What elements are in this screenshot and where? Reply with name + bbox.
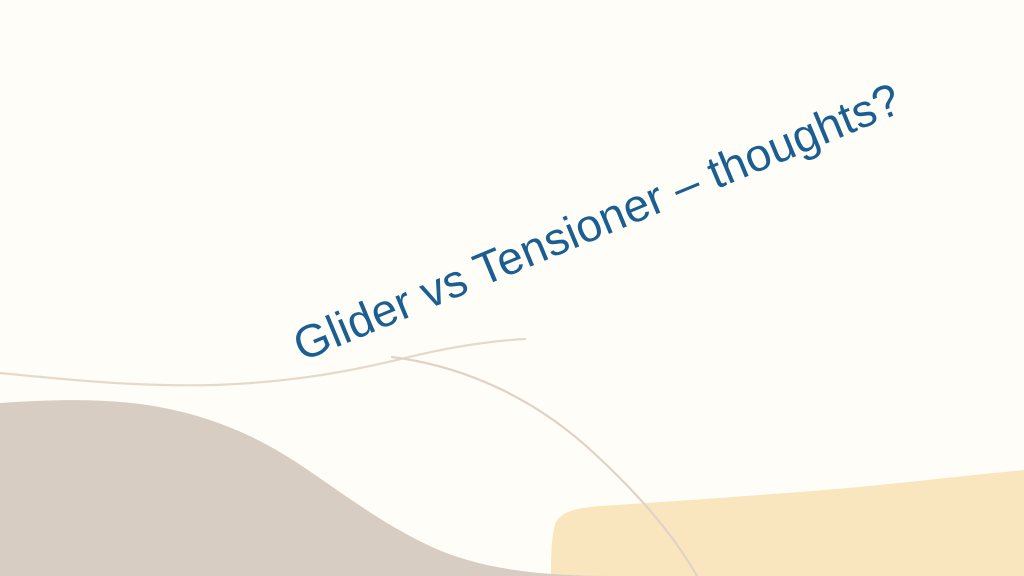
presentation-slide: Glider vs Tensioner – thoughts? [0, 0, 1024, 576]
title-layer: Glider vs Tensioner – thoughts? [0, 0, 1024, 576]
slide-title: Glider vs Tensioner – thoughts? [286, 73, 908, 370]
